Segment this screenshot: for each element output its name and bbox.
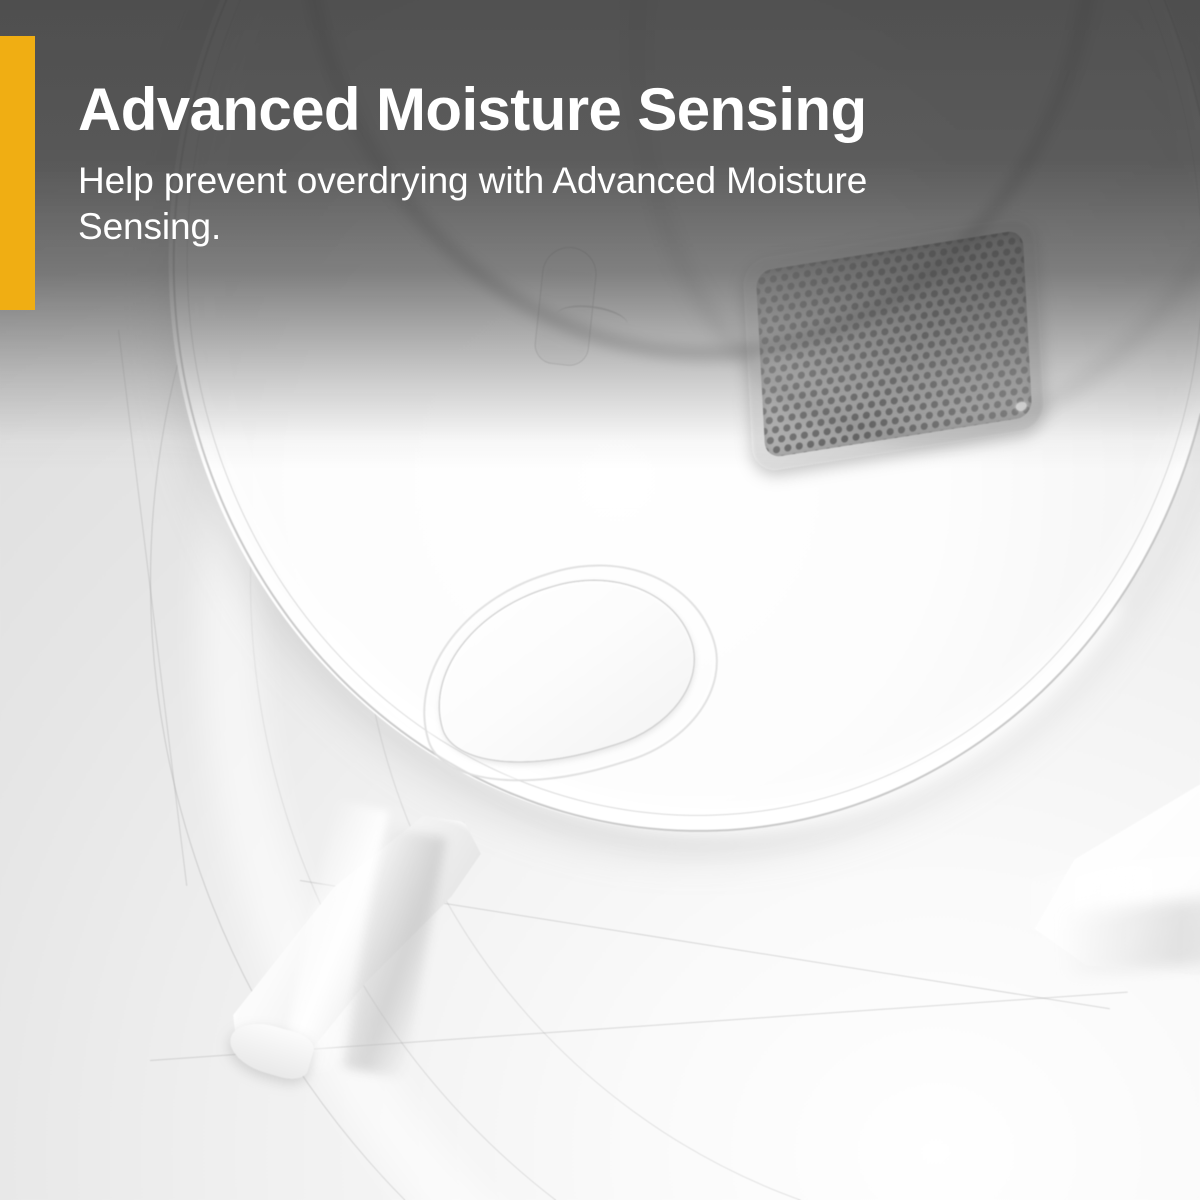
feature-text-block: Advanced Moisture Sensing Help prevent o… xyxy=(78,78,1138,251)
feature-description: Help prevent overdrying with Advanced Mo… xyxy=(78,158,878,251)
feature-card: Advanced Moisture Sensing Help prevent o… xyxy=(0,0,1200,1200)
accent-bar xyxy=(0,36,35,310)
page-title: Advanced Moisture Sensing xyxy=(78,78,1138,142)
